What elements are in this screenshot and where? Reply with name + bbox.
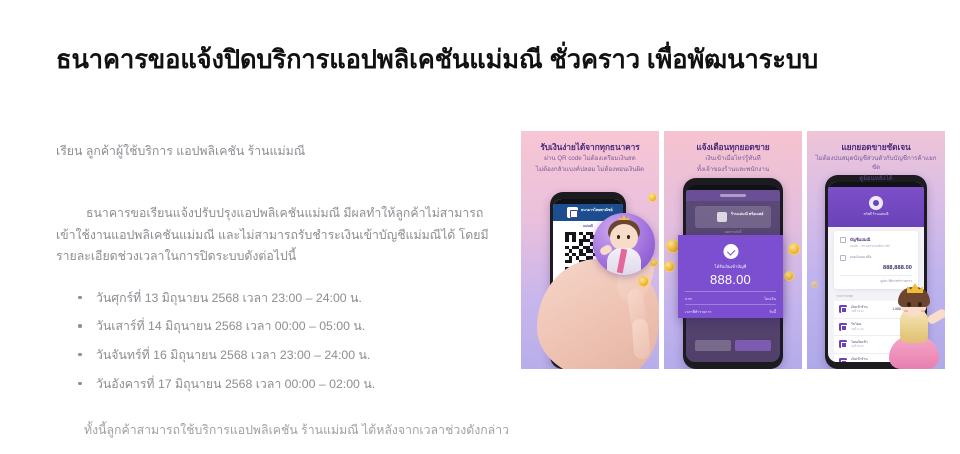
mascot-badge-icon	[593, 213, 655, 275]
schedule-item-label: วันเสาร์ที่ 14 มิถุนายน 2568 เวลา 00:00 …	[96, 319, 365, 333]
promo-panel-sales-alert: แจ้งเตือนทุกยอดขาย เงินเข้าเมื่อไหร่รู้ท…	[664, 131, 802, 369]
cheek-shape	[921, 310, 925, 313]
account-row: บัญชีแม่มณี แม่มณี – กระแสรายวันเพื่อการ…	[840, 236, 912, 249]
share-image-button[interactable]	[735, 340, 771, 351]
finger-shape	[632, 318, 651, 359]
schedule-item-label: วันศุกร์ที่ 13 มิถุนายน 2568 เวลา 23:00 …	[96, 291, 362, 305]
list-item: วันจันทร์ที่ 16 มิถุนายน 2568 เวลา 23:00…	[78, 346, 496, 365]
balance-value: 888,888.00	[840, 265, 912, 271]
closing-paragraph: ทั้งนี้ลูกค้าสามารถใช้บริการแอปพลิเคชัน …	[84, 421, 496, 441]
bank-logo-icon	[567, 207, 578, 218]
promo-subline-2: ดูย้อนหลังได้	[813, 175, 939, 184]
user-name-label: สวัสดี ร้านแม่มณี	[828, 212, 924, 217]
coin-icon	[664, 261, 675, 272]
bullet-icon	[78, 324, 82, 328]
transaction-time: วันนี้ 14:32	[851, 310, 888, 314]
promo-panel-qr-payment: รับเงินง่ายได้จากทุกธนาคาร ผ่าน QR code …	[521, 131, 659, 369]
transaction-icon	[839, 358, 847, 362]
bullet-icon	[78, 296, 82, 300]
save-image-button[interactable]	[695, 340, 731, 351]
promo-image-strip: รับเงินง่ายได้จากทุกธนาคาร ผ่าน QR code …	[521, 131, 945, 369]
promo-headline: แยกยอดขายชัดเจน	[813, 142, 939, 153]
maintenance-schedule-list: วันศุกร์ที่ 13 มิถุนายน 2568 เวลา 23:00 …	[78, 289, 496, 394]
coin-icon	[784, 271, 794, 281]
promo-heading-group: แยกยอดขายชัดเจน ไม่ต้องปนสมุดบัญชีส่วนตั…	[813, 142, 939, 184]
promo-subline-1: เงินเข้าเมื่อไหร่รู้ทันที	[670, 155, 796, 164]
schedule-item-label: วันอังคารที่ 17 มิถุนายน 2568 เวลา 00:00…	[96, 377, 375, 391]
notification-row-value: โอนเงิน	[764, 296, 776, 302]
merchant-card-label: ร้านแม่มณี พร้อมเพย์	[731, 212, 763, 217]
app-title-placeholder	[720, 194, 746, 197]
eye-shape	[918, 302, 922, 307]
promo-subline-1: ไม่ต้องปนสมุดบัญชีส่วนตัวกับบัญชีการค้าแ…	[813, 155, 939, 173]
balance-label: ยอดเงินคงเหลือ	[850, 255, 871, 260]
schedule-item-label: วันจันทร์ที่ 16 มิถุนายน 2568 เวลา 23:00…	[96, 348, 370, 362]
merchant-summary-card: ร้านแม่มณี พร้อมเพย์	[695, 206, 771, 228]
list-item: วันอังคารที่ 17 มิถุนายน 2568 เวลา 00:00…	[78, 375, 496, 394]
payment-received-notification: ได้รับเงินเข้าบัญชี 888.00 บาท โอนเงิน เ…	[678, 235, 783, 318]
account-name-label: บัญชีแม่มณี	[850, 236, 890, 243]
store-icon	[717, 212, 727, 222]
notification-row: บาท โอนเงิน	[685, 291, 776, 305]
notification-row-label: เวลาที่ทำรายการ	[685, 309, 711, 315]
transaction-name: เงินเข้าร้าน	[851, 305, 888, 310]
promo-headline: แจ้งเตือนทุกยอดขาย	[670, 142, 796, 153]
coin-icon	[648, 193, 657, 202]
announcement-page: ธนาคารขอแจ้งปิดบริการแอปพลิเคชันแม่มณี ช…	[0, 0, 960, 454]
eye-shape	[627, 235, 630, 239]
transaction-icon	[839, 323, 847, 331]
balance-row: ยอดเงินคงเหลือ	[840, 254, 912, 261]
announcement-text-column: เรียน ลูกค้าผู้ใช้บริการ แอปพลิเคชัน ร้า…	[56, 142, 496, 440]
account-icon	[840, 237, 846, 243]
announcement-body-paragraph: ธนาคารขอเรียนแจ้งปรับปรุงแอปพลิเคชันแม่ม…	[56, 203, 496, 266]
app-bottom-buttons	[695, 340, 771, 351]
account-desc-label: แม่มณี – กระแสรายวันเพื่อการค้า	[850, 244, 890, 249]
transaction-icon	[839, 305, 847, 313]
list-item: วันศุกร์ที่ 13 มิถุนายน 2568 เวลา 23:00 …	[78, 289, 496, 308]
bullet-icon	[78, 382, 82, 386]
list-item: วันเสาร์ที่ 14 มิถุนายน 2568 เวลา 00:00 …	[78, 317, 496, 336]
coin-icon	[638, 276, 649, 287]
notification-row-value: วันนี้	[769, 309, 776, 315]
bullet-icon	[78, 353, 82, 357]
coin-icon	[650, 259, 658, 267]
head-shape	[610, 224, 638, 251]
wallet-icon	[840, 255, 846, 261]
arm-shape	[926, 308, 945, 326]
notification-amount-value: 888.00	[678, 272, 783, 287]
greeting-line: เรียน ลูกค้าผู้ใช้บริการ แอปพลิเคชัน ร้า…	[56, 142, 496, 160]
promo-subline-1: ผ่าน QR code ไม่ต้องเตรียมเงินสด	[527, 155, 653, 164]
app-top-bar	[686, 190, 780, 201]
app-header: สวัสดี ร้านแม่มณี	[828, 187, 924, 227]
coin-icon	[811, 281, 818, 288]
promo-subline-2: ทั้งเจ้าของร้านและพนักงาน	[670, 166, 796, 175]
mascot-queen-illustration	[887, 277, 945, 369]
promo-heading-group: รับเงินง่ายได้จากทุกธนาคาร ผ่าน QR code …	[527, 142, 653, 175]
notification-row: เวลาที่ทำรายการ วันนี้	[685, 304, 776, 318]
eye-shape	[907, 302, 911, 307]
page-title: ธนาคารขอแจ้งปิดบริการแอปพลิเคชันแม่มณี ช…	[56, 44, 916, 77]
coin-icon	[788, 243, 800, 255]
promo-heading-group: แจ้งเตือนทุกยอดขาย เงินเข้าเมื่อไหร่รู้ท…	[670, 142, 796, 175]
eye-shape	[617, 235, 620, 239]
promo-panel-separate-accounts: แยกยอดขายชัดเจน ไม่ต้องปนสมุดบัญชีส่วนตั…	[807, 131, 945, 369]
check-circle-icon	[723, 244, 738, 259]
notification-row-label: บาท	[685, 296, 692, 302]
cheek-shape	[904, 310, 908, 313]
transaction-icon	[839, 340, 847, 348]
bank-name-label: ธนาคารไทยพาณิชย์	[581, 208, 613, 213]
promo-subline-2: ไม่ต้องกลัวแบงค์ปลอม ไม่ต้องทอนเงินผิด	[527, 166, 653, 175]
promo-headline: รับเงินง่ายได้จากทุกธนาคาร	[527, 142, 653, 153]
notification-status-label: ได้รับเงินเข้าบัญชี	[678, 263, 783, 270]
avatar	[869, 196, 883, 210]
